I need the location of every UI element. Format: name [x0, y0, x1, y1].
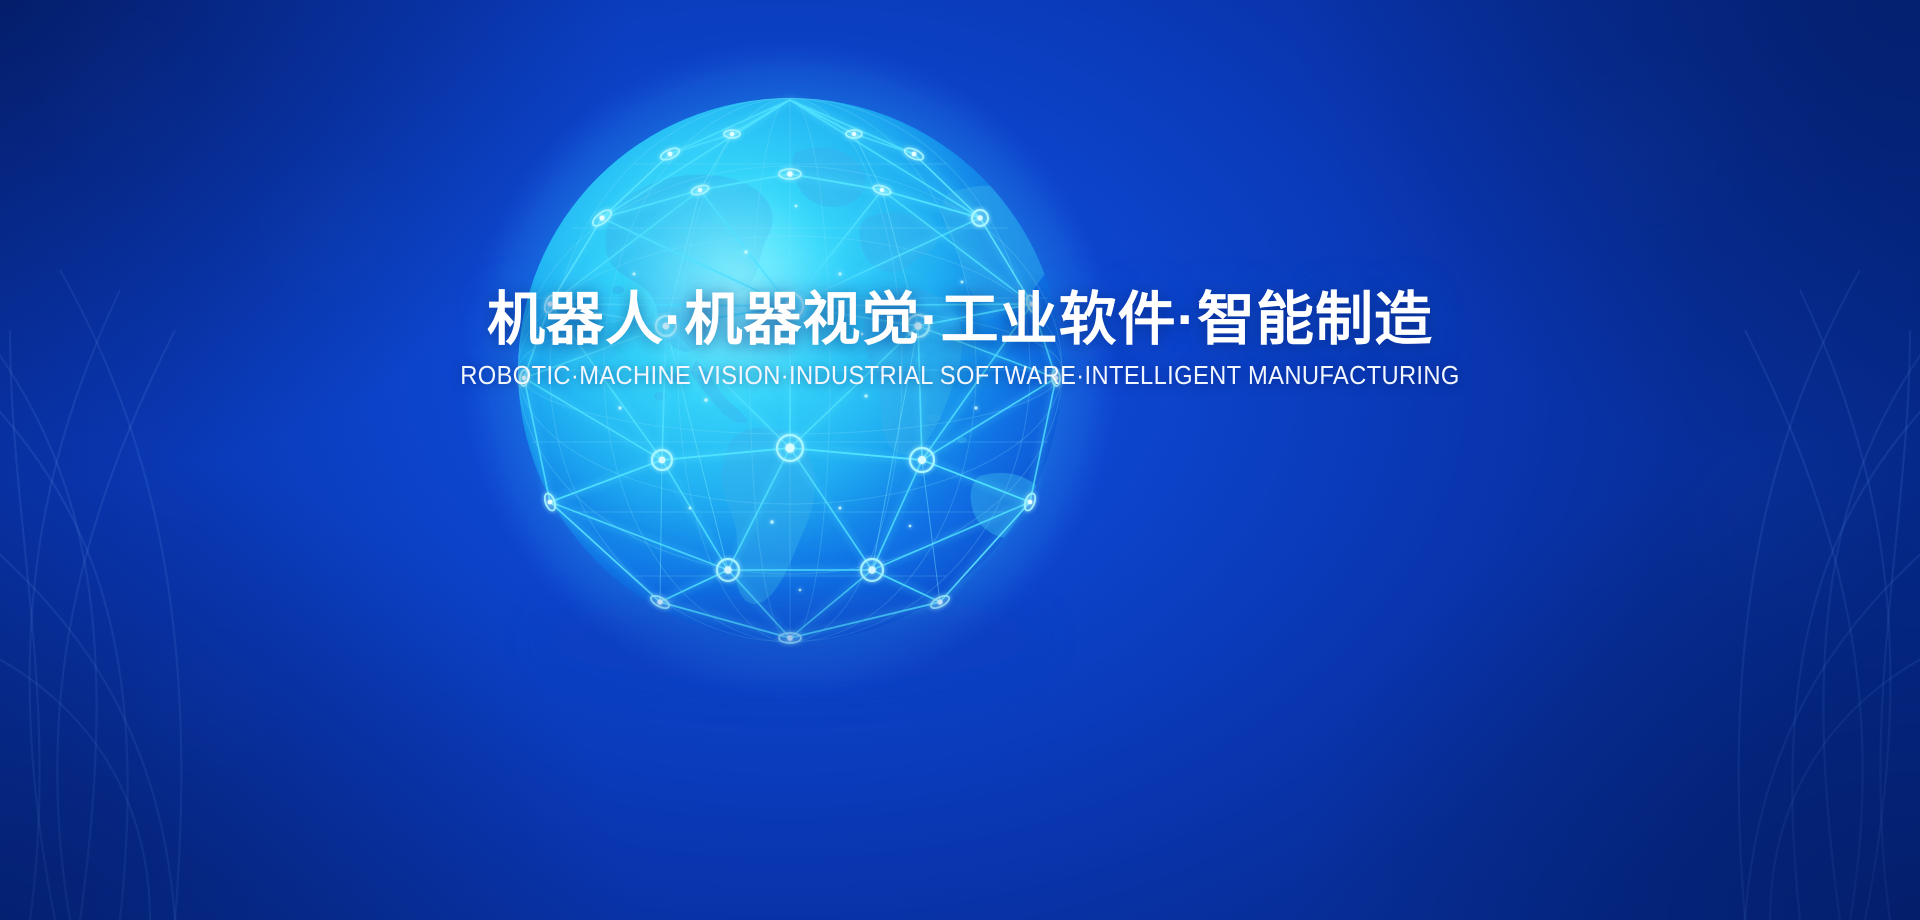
hero-copy: 机器人·机器视觉·工业软件·智能制造 ROBOTIC·MACHINE VISIO…	[0, 288, 1920, 390]
page-subtitle: ROBOTIC·MACHINE VISION·INDUSTRIAL SOFTWA…	[67, 362, 1853, 390]
hero-banner: 机器人·机器视觉·工业软件·智能制造 ROBOTIC·MACHINE VISIO…	[0, 0, 1920, 920]
page-title: 机器人·机器视觉·工业软件·智能制造	[0, 288, 1920, 352]
